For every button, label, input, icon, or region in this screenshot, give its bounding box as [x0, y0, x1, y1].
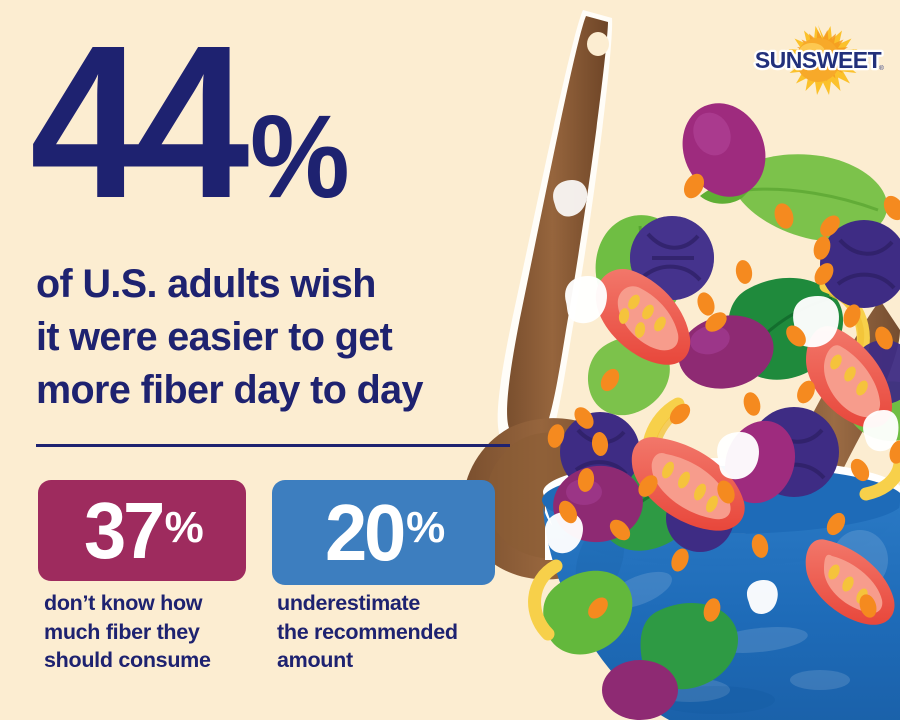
stat-badge-percent-symbol: % — [165, 506, 203, 550]
hero-headline-line: of U.S. adults wish — [36, 258, 506, 311]
sunsweet-wordmark: SUNSWEET SUNSWEET ® — [755, 47, 884, 73]
stat-badge-value: 37 — [84, 491, 162, 571]
hero-stat: 44 % — [30, 38, 351, 208]
hero-stat-value: 44 — [30, 38, 241, 208]
registered-trademark-icon: ® — [879, 64, 884, 72]
hero-headline-line: more fiber day to day — [36, 364, 506, 417]
stat-caption-line: amount — [277, 646, 512, 675]
hero-headline: of U.S. adults wish it were easier to ge… — [36, 258, 506, 417]
stat-badge-value: 20 — [325, 493, 403, 573]
stat-badge-37: 37 % — [38, 480, 246, 581]
sunsweet-logo: SUNSWEET SUNSWEET ® — [748, 22, 888, 98]
stat-caption-20: underestimate the recommended amount — [277, 589, 512, 675]
stat-caption-line: much fiber they — [44, 618, 259, 647]
stat-caption-line: the recommended — [277, 618, 512, 647]
hero-headline-line: it were easier to get — [36, 311, 506, 364]
stat-caption-line: should consume — [44, 646, 259, 675]
stat-caption-37: don’t know how much fiber they should co… — [44, 589, 259, 675]
stat-badge-20: 20 % — [272, 480, 495, 585]
stats-column: 44 % of U.S. adults wish it were easier … — [0, 0, 540, 720]
stat-badge-percent-symbol: % — [406, 506, 444, 550]
stat-caption-line: don’t know how — [44, 589, 259, 618]
stat-group-37: 37 % — [38, 480, 246, 581]
infographic-canvas: SUNSWEET SUNSWEET ® 44 % of U.S. adults … — [0, 0, 900, 720]
stat-caption-line: underestimate — [277, 589, 512, 618]
hero-percent-symbol: % — [250, 111, 346, 203]
stat-group-20: 20 % — [272, 480, 495, 585]
fresh-plum — [602, 660, 678, 720]
sunsweet-wordmark-text: SUNSWEET — [755, 47, 882, 73]
section-divider — [36, 444, 510, 447]
